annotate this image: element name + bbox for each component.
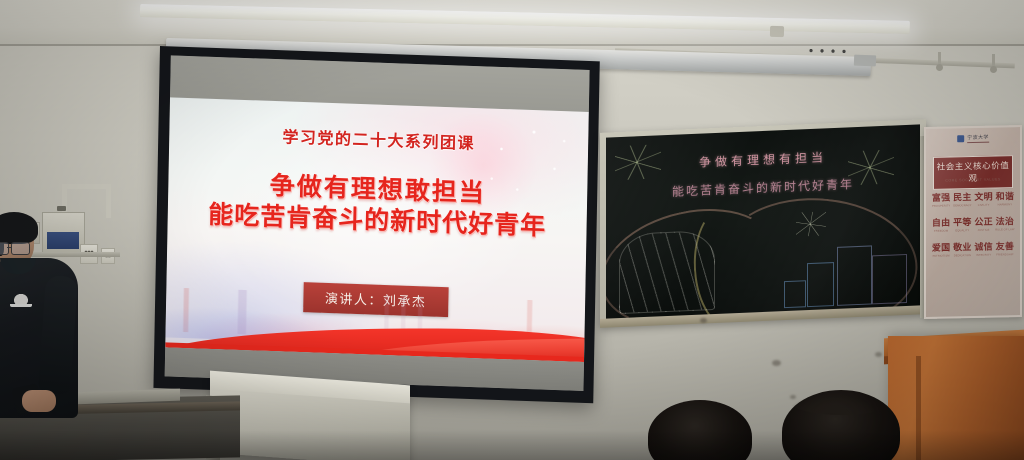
projector-screen-frame: 学习党的二十大系列团课 争做有理想敢担当 能吃苦肯奋斗的新时代好青年 演讲人：刘… <box>153 46 599 403</box>
value-cn: 敬业 <box>952 240 972 253</box>
blackboard-frame: 争做有理想有担当 能吃苦肯奋斗的新时代好青年 <box>600 119 926 327</box>
chalk-building <box>807 262 834 308</box>
classroom-scene: 学习党的二十大系列团课 争做有理想敢担当 能吃苦肯奋斗的新时代好青年 演讲人：刘… <box>0 0 1024 460</box>
person-hair <box>0 212 38 244</box>
value-en: CIVILITY <box>974 204 994 207</box>
screen-housing-vents-icon <box>808 48 848 54</box>
ceiling-hanger-ball <box>936 64 943 71</box>
value-cn: 自由 <box>931 215 951 228</box>
value-en: DEMOCRACY <box>952 204 972 207</box>
value-item: 和谐 HARMONY <box>995 189 1015 206</box>
value-en: JUSTICE <box>974 229 994 232</box>
value-en: PROSPERITY <box>931 204 951 207</box>
value-item: 平等 EQUALITY <box>952 215 972 232</box>
slide-speaker-banner: 演讲人：刘承杰 <box>303 282 449 317</box>
wall-smudge <box>875 352 882 357</box>
poster-headline: 社会主义核心价值观 <box>933 155 1013 190</box>
chalk-building <box>872 254 907 305</box>
value-en: EQUALITY <box>952 229 972 232</box>
chalk-cityscape-drawing <box>782 230 908 309</box>
value-en: DEDICATION <box>952 254 972 257</box>
value-item: 法治 RULE OF LAW <box>995 214 1015 231</box>
glasses-lens-right <box>11 242 30 255</box>
standing-person <box>0 218 84 418</box>
wall-conduit <box>62 184 110 189</box>
value-item: 民主 DEMOCRACY <box>952 190 972 207</box>
value-cn: 和谐 <box>995 189 1015 202</box>
value-cn: 法治 <box>995 214 1015 227</box>
value-cn: 爱国 <box>931 240 951 253</box>
ceiling-seam <box>0 44 1024 46</box>
value-item: 友善 FRIENDSHIP <box>995 239 1015 256</box>
value-item: 爱国 PATRIOTISM <box>931 240 951 257</box>
value-en: HARMONY <box>995 203 1015 206</box>
chalk-books-drawing <box>619 230 715 313</box>
value-en: FREEDOM <box>931 229 951 232</box>
chalk-building <box>837 246 872 307</box>
value-cn: 平等 <box>952 215 972 228</box>
value-cn: 文明 <box>974 190 994 203</box>
value-cn: 民主 <box>952 190 972 203</box>
value-en: FRIENDSHIP <box>995 253 1015 256</box>
value-item: 公正 JUSTICE <box>974 215 994 232</box>
value-cn: 公正 <box>974 215 994 228</box>
ceiling-hanger-ball <box>990 66 997 73</box>
person-glasses-icon <box>0 242 34 253</box>
projected-slide: 学习党的二十大系列团课 争做有理想敢担当 能吃苦肯奋斗的新时代好青年 演讲人：刘… <box>165 97 589 362</box>
glasses-lens-left <box>0 242 9 255</box>
projector-screen-surface: 学习党的二十大系列团课 争做有理想敢担当 能吃苦肯奋斗的新时代好青年 演讲人：刘… <box>165 55 590 391</box>
core-values-grid: 富强 PROSPERITY 民主 DEMOCRACY 文明 CIVILITY 和… <box>931 189 1015 258</box>
wall-conduit <box>106 184 111 218</box>
value-item: 诚信 INTEGRITY <box>974 240 994 257</box>
person-hand <box>22 390 56 412</box>
value-cn: 诚信 <box>974 240 994 253</box>
screen-housing-end-cap <box>854 55 876 67</box>
core-values-poster: 宁波大学 社会主义核心价值观 CORE SOCIALIST VALUES 富强 … <box>924 125 1022 319</box>
value-item: 自由 FREEDOM <box>931 215 951 232</box>
value-en: PATRIOTISM <box>931 254 951 257</box>
blackboard-surface: 争做有理想有担当 能吃苦肯奋斗的新时代好青年 <box>606 124 920 321</box>
value-item: 富强 PROSPERITY <box>931 190 951 207</box>
university-emblem-icon <box>957 135 964 142</box>
student-head-right <box>782 390 900 460</box>
value-item: 敬业 DEDICATION <box>952 240 972 257</box>
chalk-building <box>784 281 806 309</box>
wall-smudge <box>772 360 781 366</box>
poster-university-name: 宁波大学 <box>967 134 989 143</box>
control-box-indicator <box>57 206 66 211</box>
value-en: RULE OF LAW <box>995 228 1015 231</box>
poster-university-logo: 宁波大学 <box>957 134 989 144</box>
wall-smudge <box>700 318 707 323</box>
value-en: INTEGRITY <box>974 254 994 257</box>
jacket-brand-logo-icon <box>10 290 32 307</box>
wooden-podium <box>888 336 1024 460</box>
glasses-bridge <box>7 247 12 248</box>
value-cn: 富强 <box>931 190 951 203</box>
wooden-podium-corner-edge <box>916 356 921 460</box>
value-item: 文明 CIVILITY <box>974 190 994 207</box>
value-cn: 友善 <box>995 239 1015 252</box>
tube-light-cap <box>770 26 784 37</box>
